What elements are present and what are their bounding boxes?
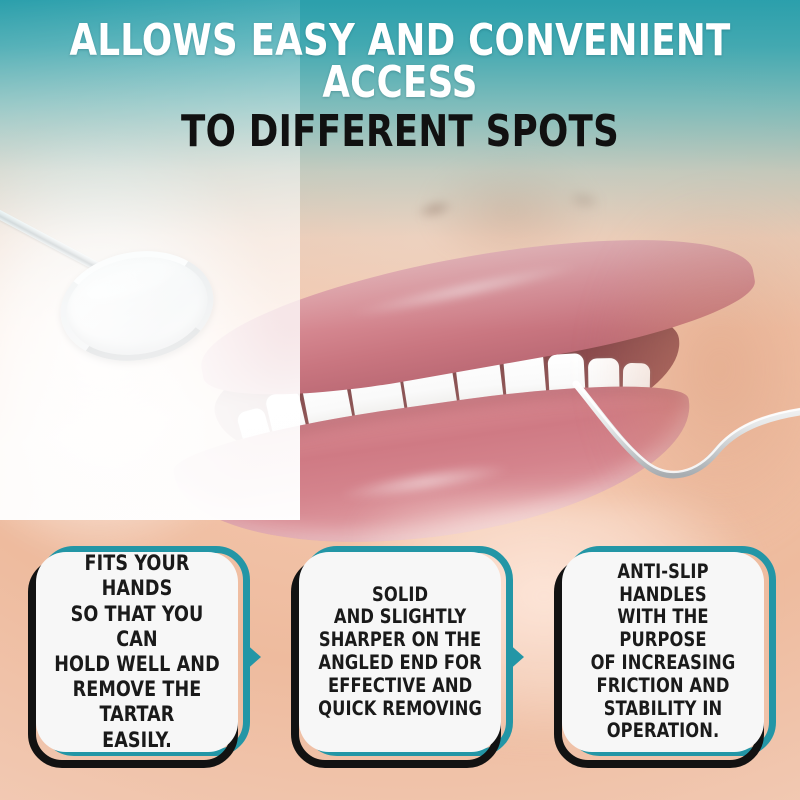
callout-box-fits-your-hands[interactable]: FITS YOUR HANDS SO THAT YOU CAN HOLD WEL…: [28, 546, 250, 768]
callout-box-solid-and-sharper[interactable]: SOLID AND SLIGHTLY SHARPER ON THE ANGLED…: [291, 546, 513, 768]
callout-card: FITS YOUR HANDS SO THAT YOU CAN HOLD WEL…: [36, 552, 238, 752]
callout-arrow-icon: [507, 642, 524, 672]
infographic-canvas: ALLOWS EASY AND CONVENIENT ACCESS TO DIF…: [0, 0, 800, 800]
callout-text: FITS YOUR HANDS SO THAT YOU CAN HOLD WEL…: [51, 551, 222, 753]
callout-box-group: FITS YOUR HANDS SO THAT YOU CAN HOLD WEL…: [0, 546, 800, 776]
callout-arrow-icon: [244, 642, 261, 672]
callout-text: SOLID AND SLIGHTLY SHARPER ON THE ANGLED…: [318, 584, 482, 721]
dental-scaler-icon: [570, 360, 800, 510]
callout-box-anti-slip-handles[interactable]: ANTI-SLIP HANDLES WITH THE PURPOSE OF IN…: [554, 546, 776, 768]
callout-card: SOLID AND SLIGHTLY SHARPER ON THE ANGLED…: [299, 552, 501, 752]
callout-card: ANTI-SLIP HANDLES WITH THE PURPOSE OF IN…: [562, 552, 764, 752]
callout-text: ANTI-SLIP HANDLES WITH THE PURPOSE OF IN…: [577, 561, 748, 744]
